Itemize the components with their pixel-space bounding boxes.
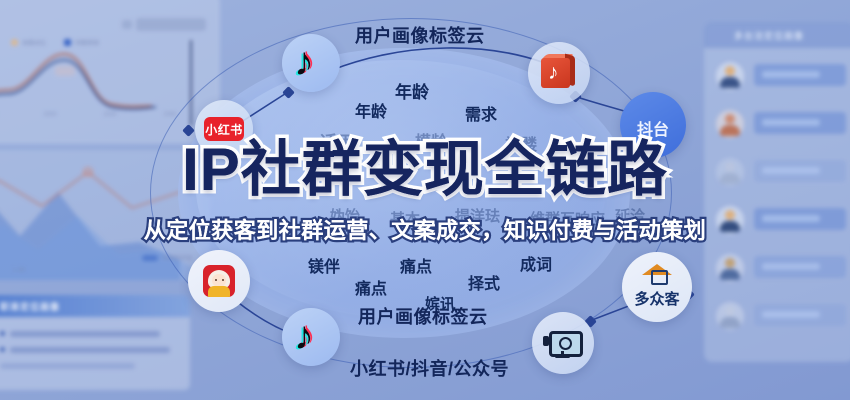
svg-text:1.00: 1.00 <box>12 267 26 274</box>
tag-word: 成词 <box>520 251 552 275</box>
page-subtitle: 从定位获客到社群运营、文案成交，知识付费与活动策划 <box>0 218 850 244</box>
house-icon <box>642 264 672 281</box>
monitor-camera-icon <box>543 328 583 358</box>
panel-row <box>712 298 850 338</box>
page-title: IP社群变现全链路 <box>0 139 850 201</box>
tag-word: 镁伴 <box>308 253 340 277</box>
tag-word: 需求 <box>465 101 497 125</box>
row-bar <box>754 304 846 326</box>
node-label: 多众客 <box>622 288 692 309</box>
node-music-cube[interactable]: ♪ <box>528 42 590 104</box>
right-panel-header: 多台洽定位画像 <box>704 22 850 48</box>
ring-label-bottom: 用户画像标签云 <box>358 303 488 329</box>
node-duozhongke[interactable]: 多众客 <box>622 252 692 322</box>
x-tick: 2000 <box>43 112 56 118</box>
girl-avatar-icon <box>203 265 235 297</box>
ring-label-top: 用户画像标签云 <box>355 22 485 48</box>
row-bar <box>754 256 846 278</box>
tag-word: 痛点 <box>355 275 387 299</box>
poster-canvas: 基准 本期对比 同期预测 1995 2000 2040 2080 <box>0 0 850 400</box>
background-positioning-card: 职准定位画像 <box>0 295 190 390</box>
tiktok-note-icon: ♪♪♪ <box>294 44 328 82</box>
node-live-monitor[interactable] <box>532 312 594 374</box>
tag-word: 嫔讯 <box>425 293 455 314</box>
ring-label-bottom-sub: 小红书/抖音/公众号 <box>350 355 509 381</box>
node-tiktok-top[interactable]: ♪♪♪ <box>282 34 340 92</box>
panel-row <box>712 250 850 290</box>
tag-word: 年龄 <box>355 98 387 122</box>
avatar <box>716 62 744 90</box>
row-bar <box>754 64 846 86</box>
panel-row <box>712 58 850 98</box>
node-girl-app[interactable] <box>188 250 250 312</box>
row-bar <box>754 112 846 134</box>
avatar <box>716 302 744 330</box>
tiktok-note-icon: ♪♪♪ <box>294 318 328 356</box>
card-title: 职准定位画像 <box>0 300 60 313</box>
right-panel-title: 多台洽定位画像 <box>734 29 804 42</box>
avatar <box>716 110 744 138</box>
node-tiktok-bottom[interactable]: ♪♪♪ <box>282 308 340 366</box>
tag-word: 痛点 <box>400 253 432 277</box>
avatar <box>716 254 744 282</box>
xiaohongshu-label: 小红书 <box>205 121 243 138</box>
card-header: 职准定位画像 <box>0 295 190 317</box>
tag-word: 年龄 <box>395 78 429 103</box>
chart-x-axis-labels: 1995 2000 2040 2080 <box>0 112 200 118</box>
x-tick: 2040 <box>103 112 116 118</box>
music-cube-icon: ♪ <box>541 55 577 91</box>
tag-word: 择式 <box>468 270 500 294</box>
